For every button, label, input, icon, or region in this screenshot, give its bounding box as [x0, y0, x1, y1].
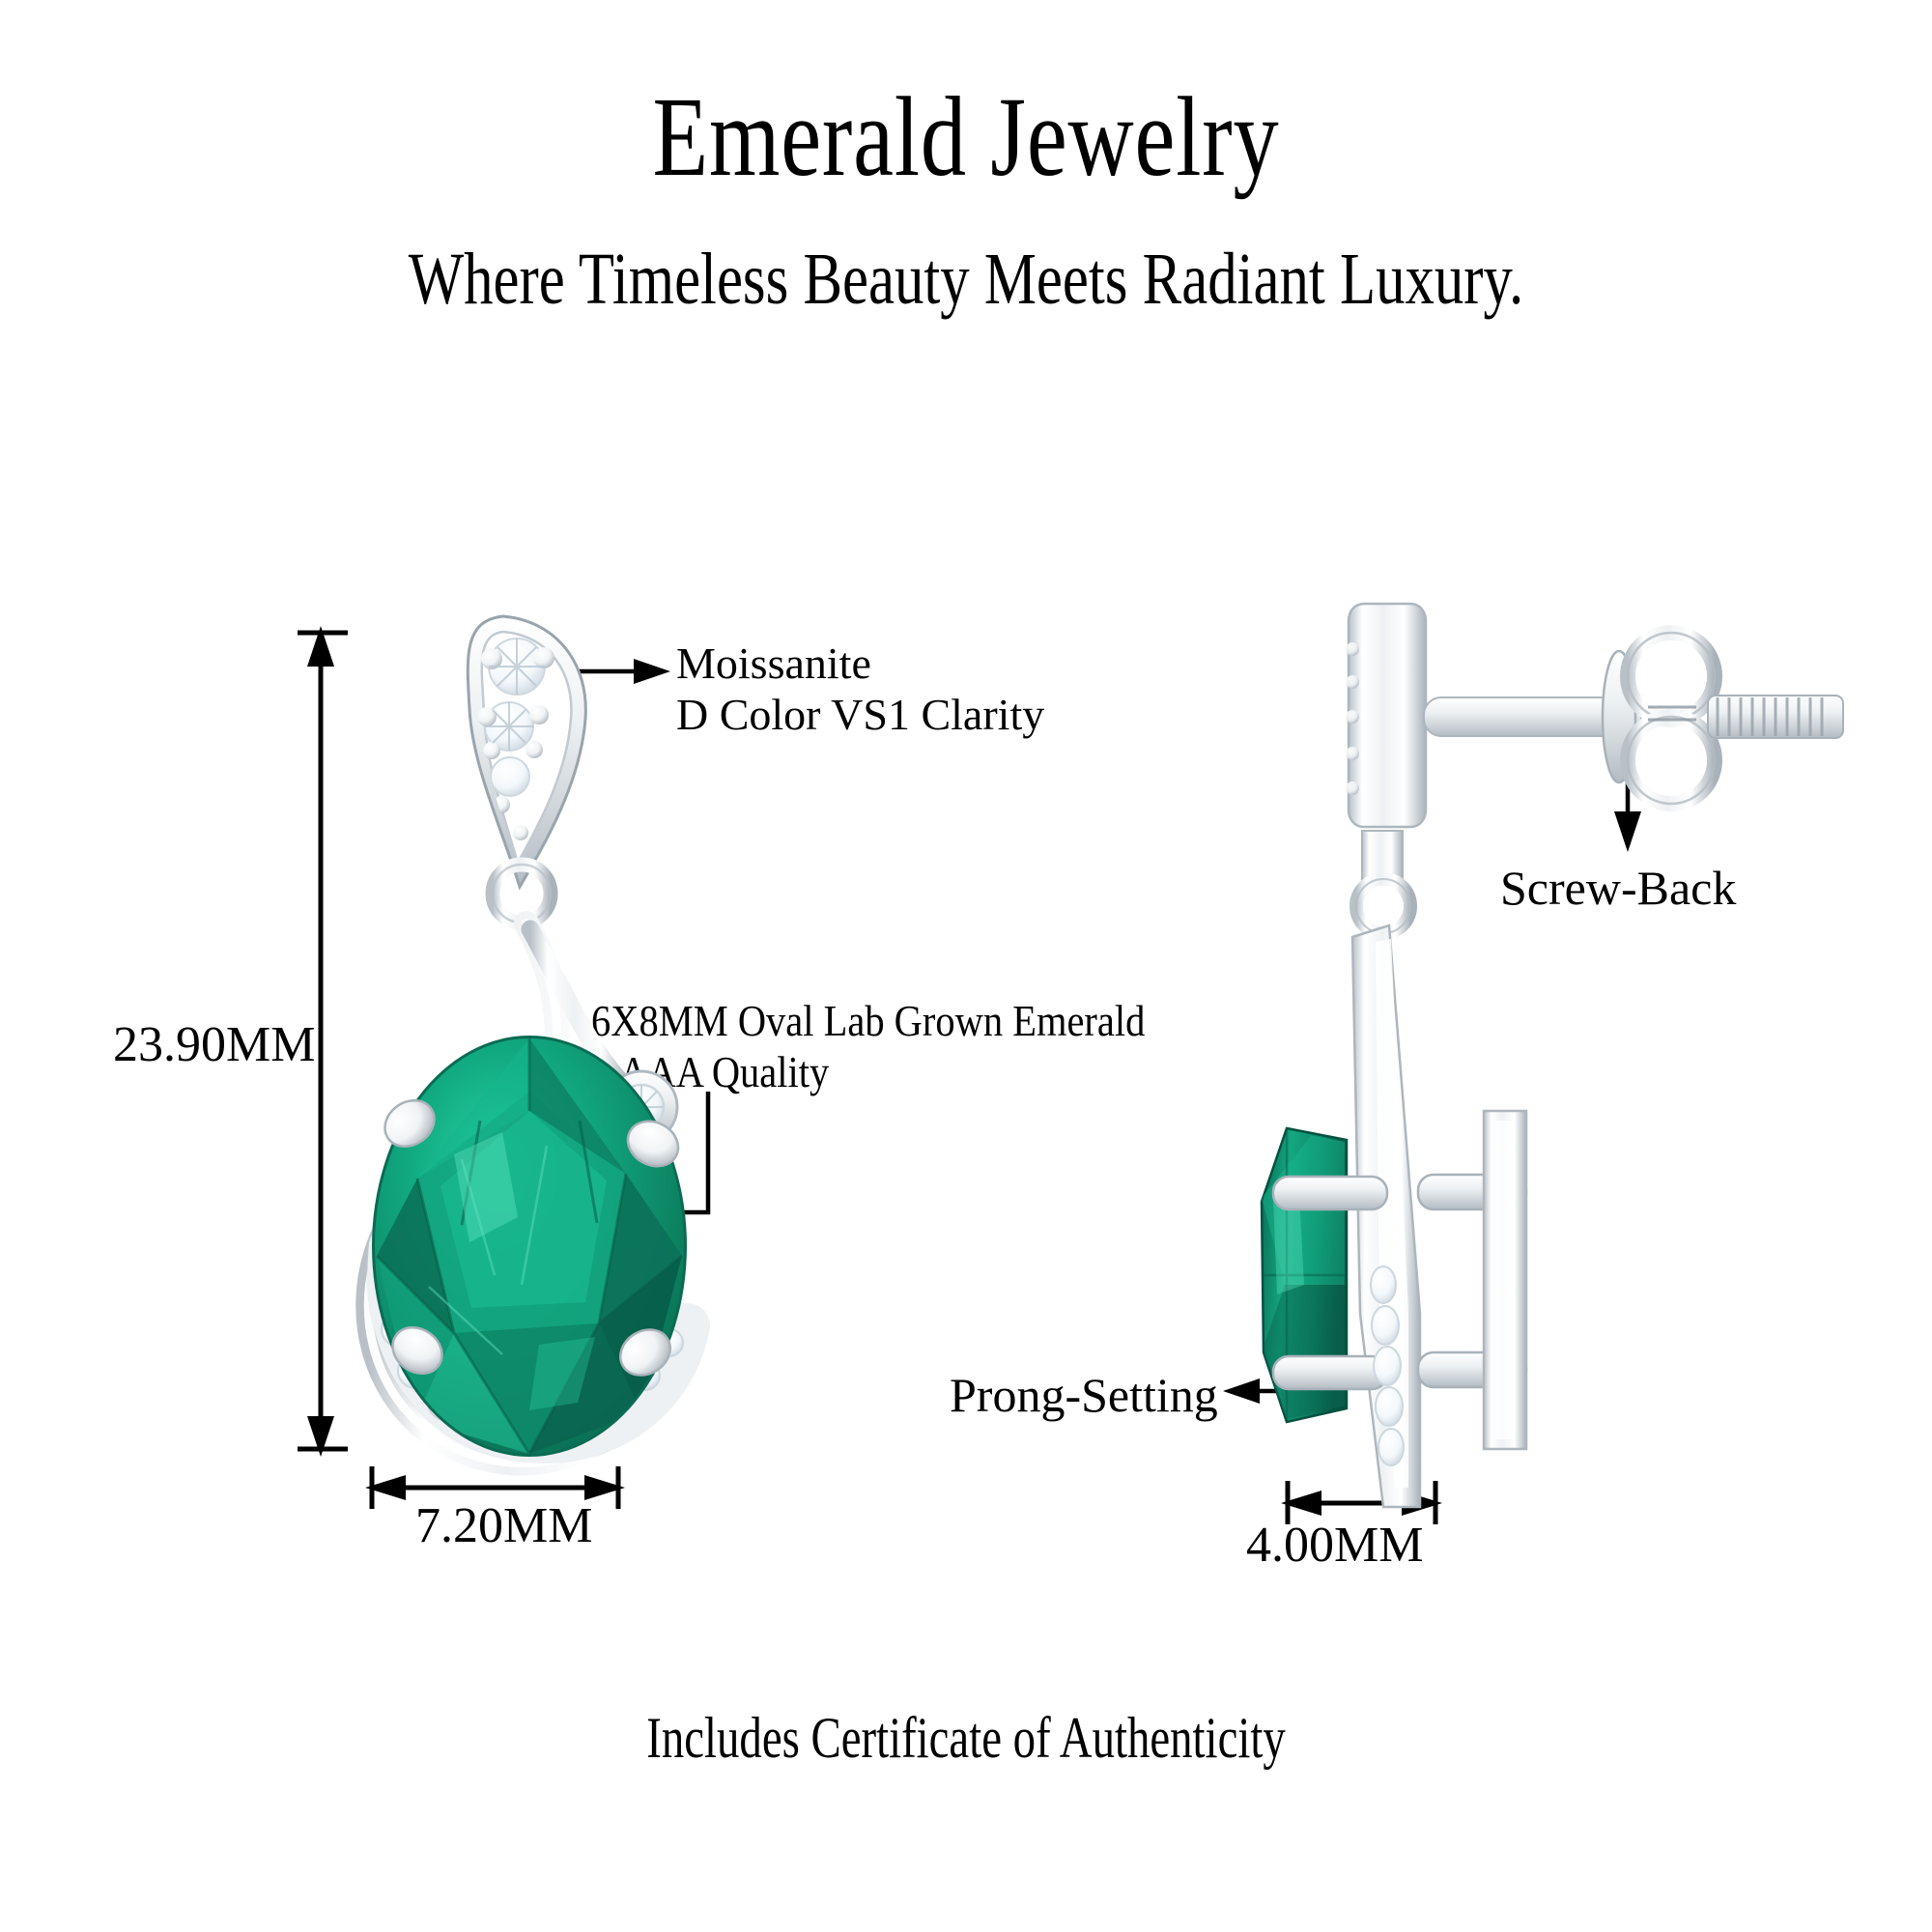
emerald-facet — [599, 1174, 682, 1323]
prong — [376, 1091, 442, 1155]
side-bail-base — [1362, 831, 1403, 881]
callout-center-stone-line1: 6X8MM Oval Lab Grown Emerald — [591, 995, 1145, 1046]
pave-crescent — [378, 1246, 688, 1445]
teardrop-pave-stones — [477, 639, 554, 840]
pave-stone — [398, 1353, 433, 1388]
pave-teardrop-top — [468, 616, 585, 887]
emerald-highlight — [529, 1337, 595, 1410]
side-swirl-blade — [1352, 925, 1420, 1507]
post-shaft — [1424, 697, 1641, 736]
page-subtitle: Where Timeless Beauty Meets Radiant Luxu… — [193, 241, 1739, 319]
emerald-facet — [417, 1038, 529, 1179]
prong — [1273, 1356, 1387, 1389]
emerald-facet — [529, 1323, 641, 1454]
pave-bead — [652, 1354, 666, 1368]
clasp-loop-lower — [1628, 717, 1715, 804]
side-drop-stem — [1352, 831, 1420, 1507]
dimension-width-label: 7.20MM — [415, 1497, 592, 1554]
pave-bead — [529, 705, 549, 724]
pave-stone — [469, 1405, 503, 1439]
leader-line-prong-setting — [1223, 1378, 1294, 1404]
callout-prong-setting: Prong-Setting — [950, 1367, 1218, 1423]
pave-bead — [477, 707, 497, 726]
callout-moissanite-line1: Moissanite — [676, 638, 1044, 689]
pave-stone — [428, 1385, 463, 1420]
pave-crescent-shadow — [388, 1246, 688, 1441]
teardrop-frame — [468, 616, 585, 887]
pave-stone — [1374, 1347, 1401, 1385]
emerald-facet — [377, 1179, 454, 1333]
callout-center-stone: 6X8MM Oval Lab Grown Emerald AAAA Qualit… — [591, 995, 1145, 1098]
screw-thread-shaft — [1708, 696, 1843, 738]
clasp-knurl — [1648, 707, 1696, 720]
emerald-facet — [454, 1323, 599, 1454]
pave-bead — [513, 825, 528, 840]
post — [1424, 697, 1641, 736]
pave-stone — [1378, 1429, 1404, 1465]
clasp-loop-upper — [1628, 633, 1715, 720]
side-emerald-body — [1262, 1128, 1347, 1422]
earring-side-view — [1262, 604, 1843, 1507]
side-blade-highlight — [1376, 939, 1408, 1488]
prong — [384, 1318, 450, 1382]
pave-bead — [623, 1384, 637, 1398]
side-back-rail — [1484, 1111, 1526, 1449]
dimension-depth-label: 4.00MM — [1246, 1517, 1423, 1574]
emerald-body — [375, 1038, 684, 1454]
emerald-table-inner — [440, 1111, 607, 1308]
pave-crescent-stones — [378, 1268, 683, 1445]
emerald-girdle — [372, 1036, 687, 1457]
pave-stone — [1372, 1306, 1399, 1345]
jump-ring-edge — [493, 865, 551, 923]
pave-bead — [526, 741, 543, 758]
screw-threads — [1718, 697, 1822, 736]
leader-line-center-stone — [605, 1092, 708, 1225]
emerald-facet — [599, 1256, 682, 1412]
pave-stone — [1376, 1387, 1403, 1426]
pave-stone — [556, 1405, 589, 1437]
pave-stone — [382, 1312, 416, 1347]
pave-bead — [384, 1300, 397, 1314]
pave-bead — [545, 1421, 558, 1435]
pave-bead — [493, 796, 510, 813]
side-teardrop-top — [1346, 604, 1426, 827]
screw-back-clasp — [1603, 633, 1843, 804]
prong — [1273, 1177, 1387, 1209]
prong — [1418, 1352, 1526, 1387]
callout-screw-back: Screw-Back — [1500, 860, 1736, 916]
pave-stone — [485, 702, 533, 751]
pave-crescent-bed — [388, 1246, 688, 1441]
side-rail-body — [1484, 1111, 1526, 1449]
prong-set — [376, 1091, 686, 1383]
pave-stone — [491, 757, 529, 796]
side-teardrop-body — [1349, 604, 1426, 827]
side-emerald-facets — [1262, 1130, 1347, 1420]
pave-bead — [481, 648, 502, 669]
callout-moissanite: Moissanite D Color VS1 Clarity — [676, 638, 1044, 741]
pave-stone — [1371, 1266, 1396, 1303]
callout-moissanite-line2: D Color VS1 Clarity — [676, 689, 1044, 740]
side-prong-set — [1273, 1175, 1526, 1389]
callout-screw-back-label: Screw-Back — [1500, 860, 1736, 916]
teardrop-inner-bed — [482, 632, 572, 863]
emerald-facet — [377, 1256, 454, 1420]
jump-ring — [493, 865, 551, 923]
leader-line-screw-back — [1614, 720, 1641, 852]
pave-stone — [512, 1410, 547, 1445]
pave-stone — [489, 639, 545, 695]
prong — [611, 1321, 678, 1384]
emerald-highlight — [454, 1132, 518, 1242]
pave-bead — [419, 1384, 433, 1398]
page-title: Emerald Jewelry — [193, 77, 1739, 197]
side-pave-edge — [1346, 642, 1359, 795]
pave-bead — [500, 1423, 514, 1436]
emerald-table — [417, 1092, 626, 1333]
leader-line-moissanite — [510, 659, 670, 684]
pave-bead — [458, 1410, 471, 1424]
side-jump-ring — [1356, 879, 1410, 933]
pave-bead — [533, 647, 554, 668]
prong — [620, 1113, 686, 1175]
side-pave-column — [1371, 1266, 1404, 1465]
side-rail-highlight — [1495, 1121, 1515, 1439]
pave-stone — [597, 1387, 628, 1418]
callout-center-stone-line2: AAAA Quality — [591, 1046, 1145, 1097]
page-footer-note: Includes Certificate of Authenticity — [213, 1708, 1719, 1769]
callout-prong-setting-label: Prong-Setting — [950, 1367, 1218, 1423]
prong — [1418, 1175, 1526, 1209]
pave-bead — [483, 742, 500, 759]
jump-ring-outer — [493, 865, 551, 923]
pave-stone — [378, 1268, 411, 1301]
pave-stone — [631, 1361, 660, 1390]
pave-stone-group — [1371, 1266, 1404, 1465]
clasp-plate — [1603, 651, 1635, 782]
pave-bead — [394, 1345, 408, 1358]
pave-bead — [585, 1407, 599, 1421]
dimension-height-label: 23.90MM — [113, 1016, 315, 1073]
pave-stone — [656, 1329, 683, 1356]
product-diagram: Emerald Jewelry Where Timeless Beauty Me… — [0, 0, 1932, 1932]
side-emerald — [1262, 1128, 1347, 1422]
emerald-facet — [415, 1333, 529, 1454]
